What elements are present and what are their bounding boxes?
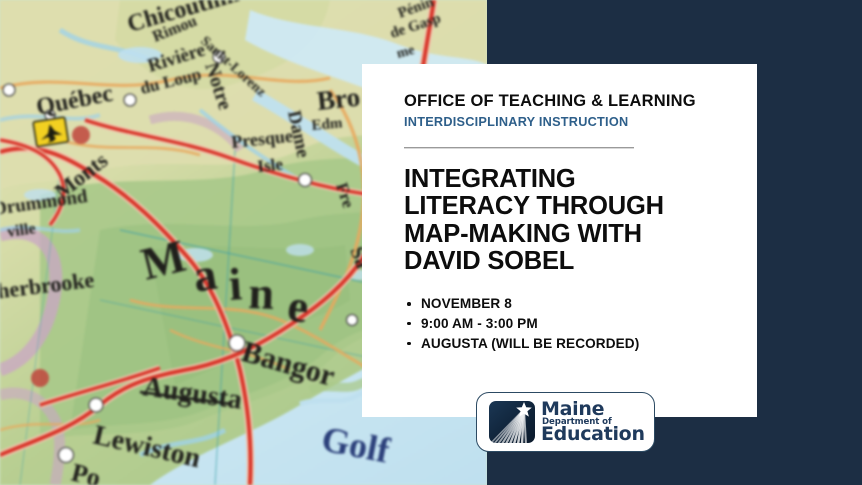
event-headline: INTEGRATING LITERACY THROUGH MAP-MAKING … bbox=[404, 166, 757, 275]
svg-text:n: n bbox=[248, 267, 275, 319]
list-item-time: 9:00 AM - 3:00 PM bbox=[404, 314, 757, 334]
headline-line-2: LITERACY THROUGH bbox=[404, 193, 757, 220]
office-title: OFFICE OF TEACHING & LEARNING bbox=[404, 92, 757, 111]
logo-line-education: Education bbox=[541, 425, 645, 444]
program-subtitle: INTERDISCIPLINARY INSTRUCTION bbox=[404, 115, 757, 129]
divider-rule bbox=[404, 147, 634, 149]
svg-text:Edm: Edm bbox=[311, 115, 344, 134]
headline-line-1: INTEGRATING bbox=[404, 166, 757, 193]
list-item-date: NOVEMBER 8 bbox=[404, 294, 757, 314]
headline-line-4: DAVID SOBEL bbox=[404, 248, 757, 275]
event-details-list: NOVEMBER 8 9:00 AM - 3:00 PM AUGUSTA (WI… bbox=[404, 294, 757, 353]
logo-wordmark: Maine Department of Education bbox=[541, 400, 645, 445]
logo-line-maine: Maine bbox=[541, 400, 645, 419]
svg-text:Bro: Bro bbox=[315, 82, 361, 116]
list-item-location: AUGUSTA (WILL BE RECORDED) bbox=[404, 334, 757, 354]
content-card: OFFICE OF TEACHING & LEARNING INTERDISCI… bbox=[362, 64, 757, 417]
headline-line-3: MAP-MAKING WITH bbox=[404, 221, 757, 248]
maine-doe-star-icon bbox=[488, 400, 536, 444]
presentation-slide: Chicoutimi Sankt-Lorenz Rivière du Loup … bbox=[0, 0, 862, 485]
maine-doe-logo-badge: Maine Department of Education bbox=[476, 392, 655, 452]
svg-text:Isle: Isle bbox=[256, 154, 284, 176]
